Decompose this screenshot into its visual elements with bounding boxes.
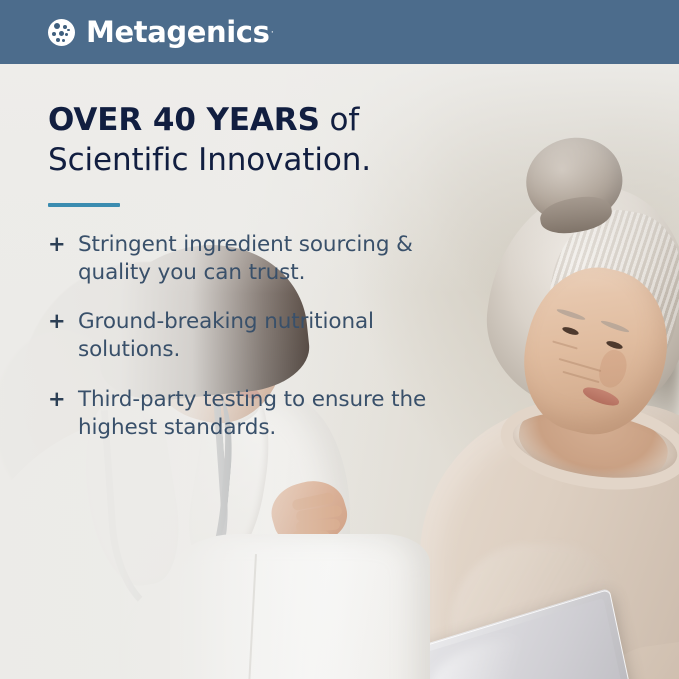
headline-strong: OVER 40 YEARS: [48, 102, 320, 138]
benefits-list: + Stringent ingredient sourcing & qualit…: [48, 231, 428, 443]
headline-line-2: Scientific Innovation.: [48, 140, 428, 180]
list-item-label: Third-party testing to ensure the highes…: [78, 386, 428, 442]
brand-name: Metagenics: [86, 18, 269, 47]
content-column: OVER 40 YEARS of Scientific Innovation. …: [48, 100, 428, 442]
metagenics-molecule-circle-icon: [48, 19, 75, 46]
list-item: + Stringent ingredient sourcing & qualit…: [48, 231, 428, 287]
list-item: + Third-party testing to ensure the high…: [48, 386, 428, 442]
headline-light: of: [320, 102, 359, 138]
list-item-label: Stringent ingredient sourcing & quality …: [78, 231, 428, 287]
brand-logo[interactable]: Metagenics ·: [48, 18, 274, 47]
list-item: + Ground-breaking nutritional solutions.: [48, 308, 428, 364]
accent-divider: [48, 203, 120, 207]
plus-icon: +: [48, 231, 78, 258]
brand-header-bar: Metagenics ·: [0, 0, 679, 64]
registered-trademark-symbol: ·: [270, 27, 274, 38]
page-title: OVER 40 YEARS of Scientific Innovation.: [48, 100, 428, 181]
plus-icon: +: [48, 308, 78, 335]
advertisement-banner: Metagenics · OVER 40 YEARS of Scientific…: [0, 0, 679, 679]
plus-icon: +: [48, 386, 78, 413]
list-item-label: Ground-breaking nutritional solutions.: [78, 308, 428, 364]
doctor-coat-foreground: [170, 534, 430, 679]
